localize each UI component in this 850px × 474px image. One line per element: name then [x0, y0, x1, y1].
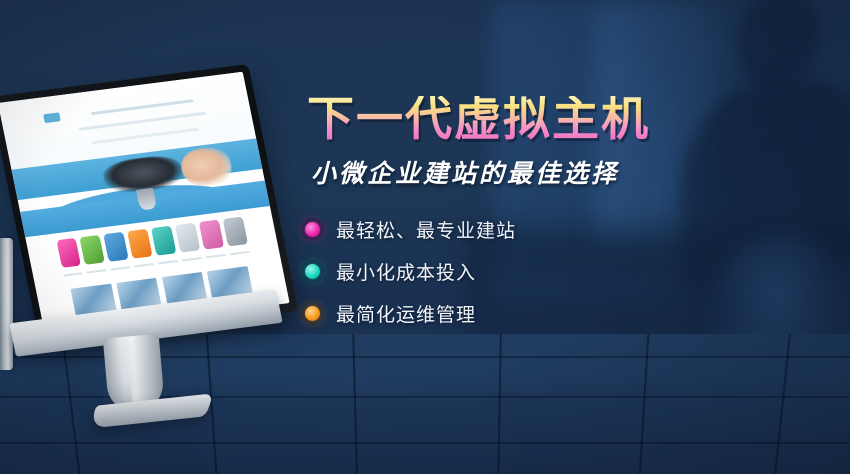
device-edge-icon [0, 238, 13, 370]
website-icon-label [182, 257, 202, 261]
website-icon-label [111, 266, 131, 270]
website-icon-label [134, 263, 154, 267]
feature-label: 最轻松、最专业建站 [336, 216, 516, 243]
website-app-icon [222, 217, 247, 247]
website-icon-label [87, 269, 107, 273]
list-item: 最轻松、最专业建站 [305, 216, 733, 243]
website-app-icon [80, 235, 105, 265]
banner-copy: 下一代虚拟主机 小微企业建站的最佳选择 最轻松、最专业建站 最小化成本投入 最简… [303, 96, 733, 342]
bullet-dot-icon [305, 264, 320, 279]
website-icon-label [158, 260, 178, 264]
bullet-dot-icon [305, 222, 320, 237]
desktop-monitor-icon [14, 78, 296, 408]
floor-line-horizontal [0, 442, 850, 444]
headline: 下一代虚拟主机 [307, 96, 650, 143]
website-icon-label [206, 254, 226, 258]
website-icon-label [63, 272, 83, 276]
feature-list: 最轻松、最专业建站 最小化成本投入 最简化运维管理 [305, 216, 733, 327]
list-item: 最简化运维管理 [305, 300, 733, 327]
website-app-icon [175, 223, 200, 253]
website-app-icon [56, 238, 81, 268]
promo-banner: 下一代虚拟主机 小微企业建站的最佳选择 最轻松、最专业建站 最小化成本投入 最简… [0, 0, 850, 474]
website-app-icon [151, 226, 176, 256]
website-app-icon [104, 232, 129, 262]
list-item: 最小化成本投入 [305, 258, 733, 285]
website-icon-label [229, 251, 249, 255]
feature-label: 最简化运维管理 [336, 300, 476, 327]
subheadline: 小微企业建站的最佳选择 [311, 161, 733, 186]
bullet-dot-icon [305, 306, 320, 321]
feature-label: 最小化成本投入 [336, 258, 476, 285]
website-app-icon [199, 220, 224, 250]
website-app-icon [127, 229, 152, 259]
